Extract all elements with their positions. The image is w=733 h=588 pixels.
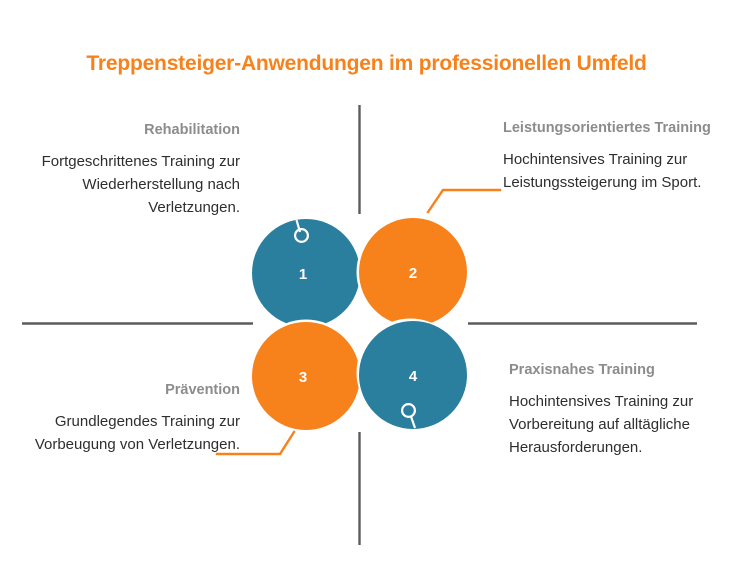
quadrant-3-heading: Prävention xyxy=(30,380,240,401)
quadrant-4-body: Hochintensives Training zur Vorbereitung… xyxy=(509,390,715,460)
page-title: Treppensteiger-Anwendungen im profession… xyxy=(0,52,733,76)
quadrant-block-praevention: Prävention Grundlegendes Training zur Vo… xyxy=(30,380,240,456)
circle-3-number: 3 xyxy=(299,369,307,386)
quadrant-2-body: Hochintensives Training zur Leistungsste… xyxy=(503,148,713,195)
infographic-canvas: Treppensteiger-Anwendungen im profession… xyxy=(0,0,733,588)
circle-4[interactable]: 4 xyxy=(359,321,467,429)
quadrant-2-heading: Leistungsorientiertes Training xyxy=(503,118,713,139)
quadrant-1-body: Fortgeschrittenes Training zur Wiederher… xyxy=(28,150,240,220)
circle-1-number: 1 xyxy=(299,266,307,283)
quadrant-block-rehabilitation: Rehabilitation Fortgeschrittenes Trainin… xyxy=(28,120,240,219)
quadrant-4-heading: Praxisnahes Training xyxy=(509,360,715,381)
circle-4-number: 4 xyxy=(409,368,417,385)
quadrant-block-praxisnahes-training: Praxisnahes Training Hochintensives Trai… xyxy=(509,360,715,459)
circle-1[interactable]: 1 xyxy=(252,219,360,327)
circle-3[interactable]: 3 xyxy=(252,322,360,430)
circle-2-number: 2 xyxy=(409,265,417,282)
quadrant-1-heading: Rehabilitation xyxy=(28,120,240,141)
circle-cluster: 1 2 3 4 xyxy=(245,205,485,440)
quadrant-3-body: Grundlegendes Training zur Vorbeugung vo… xyxy=(30,410,240,457)
circle-2[interactable]: 2 xyxy=(359,218,467,326)
quadrant-block-leistungsorientiertes-training: Leistungsorientiertes Training Hochinten… xyxy=(503,118,713,194)
